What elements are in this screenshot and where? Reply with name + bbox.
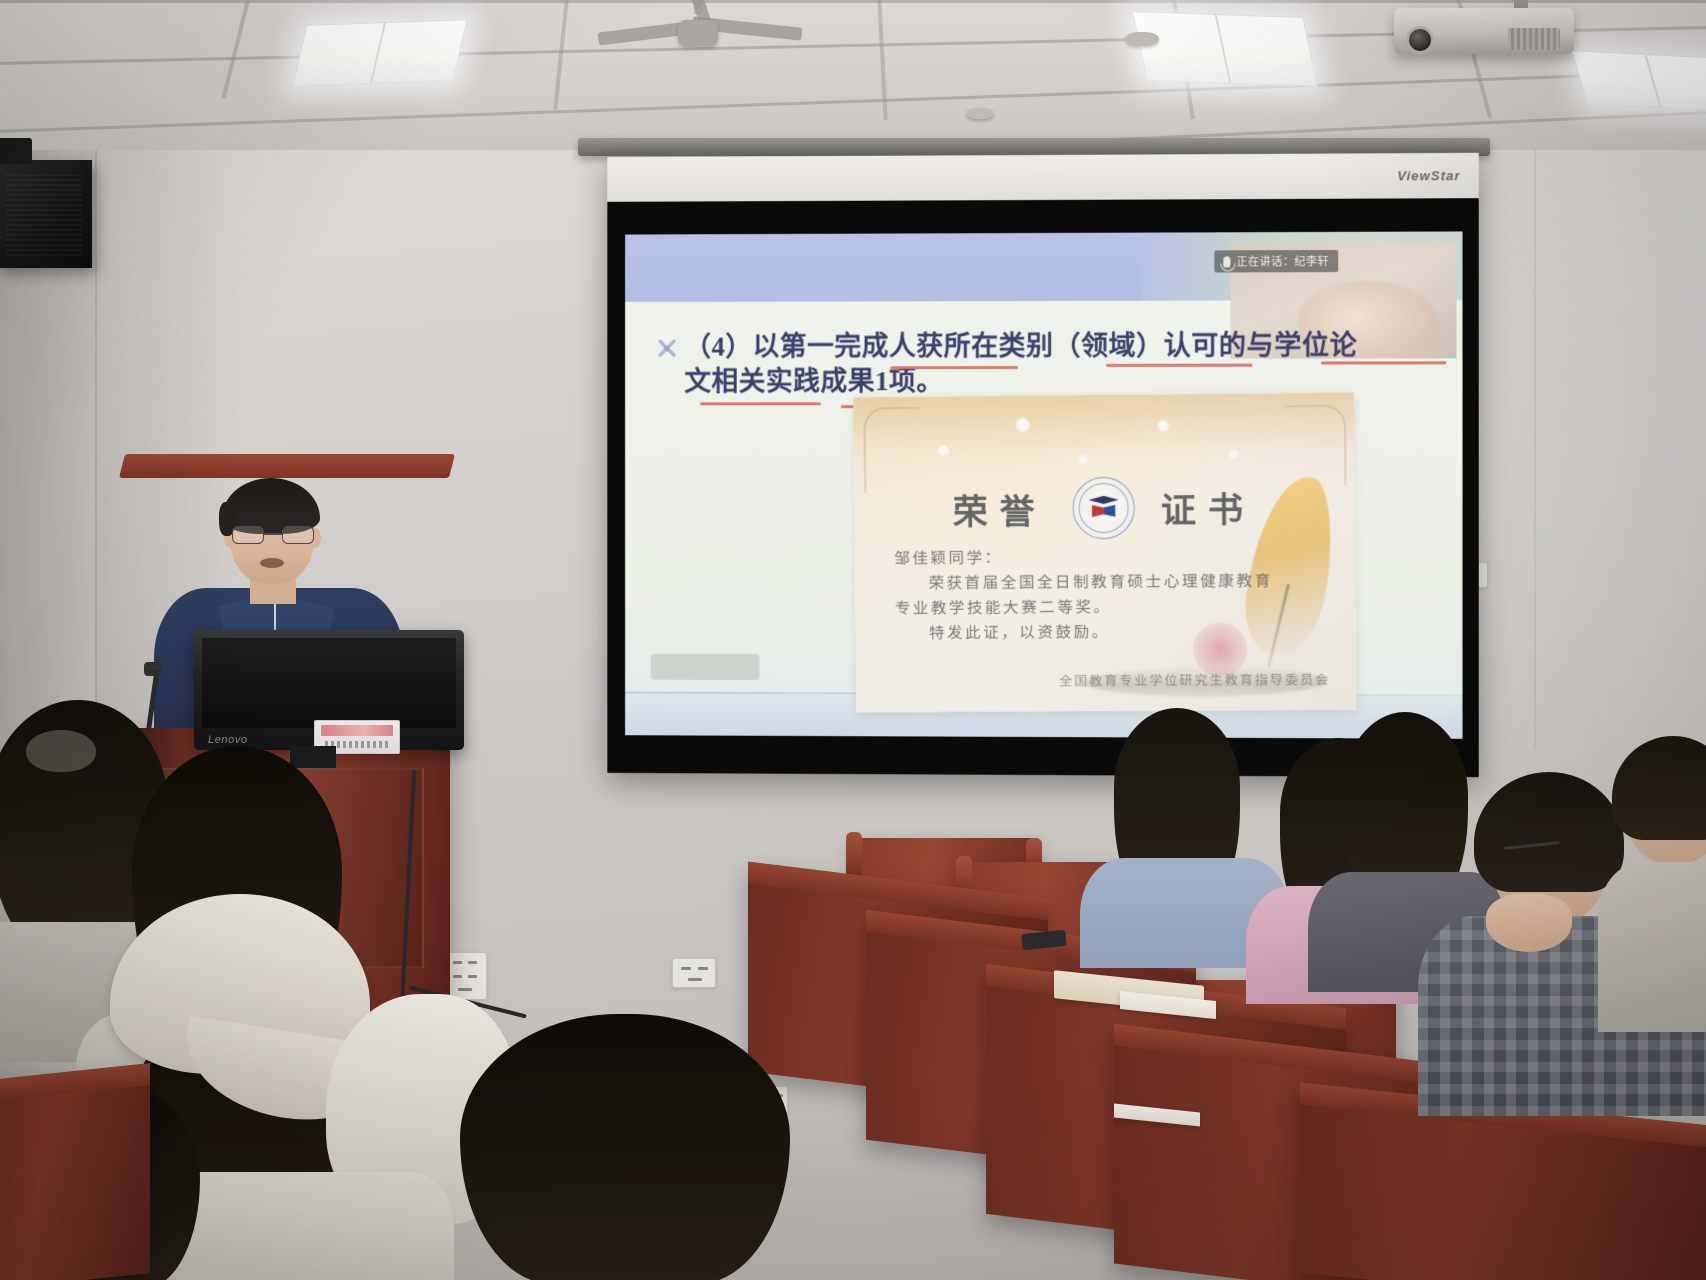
projection-screen: ViewStar 正在讲话：纪李轩 （4）以第一完成人获所在类别（领 [607,153,1478,777]
speaking-status-text: 正在讲话：纪李轩 [1236,253,1329,269]
audience-member [1616,742,1706,1002]
wooden-desk[interactable] [0,1063,150,1280]
graduation-cap-seal-icon [1072,477,1135,540]
ceiling-fan [600,4,800,62]
certificate-body-line-2: 专业教学技能大赛二等奖。 [895,598,1112,617]
ceiling-light-panel [292,19,468,87]
certificate-body-line-1: 荣获首届全国全日制教育硕士心理健康教育 [895,569,1312,597]
certificate-recipient: 邹佳颖同学： [894,544,1311,572]
lecture-hall-photo: ViewStar 正在讲话：纪李轩 （4）以第一完成人获所在类别（领 [0,0,1706,1280]
projector-lens [1406,26,1434,54]
speaking-status-badge: 正在讲话：纪李轩 [1214,250,1338,272]
ceiling-light-panel [1571,50,1706,112]
power-outlet[interactable] [672,958,716,988]
certificate-body: 邹佳颖同学： 荣获首届全国全日制教育硕士心理健康教育 专业教学技能大赛二等奖。 … [894,544,1311,647]
slide-line-1: （4）以第一完成人获所在类别（领域）认可的与学位论 [684,330,1357,361]
eyeglasses-icon [232,526,314,544]
slide-line-2: 文相关实践成果1项。 [684,366,943,396]
screen-brand-label: ViewStar [1397,168,1460,183]
certificate-issuer: 全国教育专业学位研究生教育指导委员会 [1059,669,1330,689]
smoke-detector [1125,32,1159,46]
certificate-body-line-3: 特发此证，以资鼓励。 [895,619,1312,647]
projected-image-area: 正在讲话：纪李轩 （4）以第一完成人获所在类别（领域）认可的与学位论 文相关实践… [625,231,1462,738]
ceiling-projector [1394,0,1574,62]
certificate-title-left: 荣誉 [953,483,1047,535]
ceiling-light-panel [1132,11,1318,87]
monitor-brand-label: Lenovo [208,734,248,746]
honor-certificate-image: 荣誉 证书 邹佳颖同学： 荣获首届全国全日制教育硕士心理健康教育 专业教学技能 [853,392,1356,712]
diamond-bullet-icon [659,340,676,357]
audience-member [460,1014,800,1280]
microphone-icon [1223,256,1230,267]
slide-overlay-button[interactable] [651,654,760,680]
screen-brand-bar: ViewStar [607,153,1478,202]
powerpoint-slide: 正在讲话：纪李轩 （4）以第一完成人获所在类别（领域）认可的与学位论 文相关实践… [625,231,1462,738]
certificate-title-right: 证书 [1161,481,1256,533]
smoke-detector [966,108,994,119]
wall-speaker [0,160,92,268]
desktop-monitor: Lenovo [194,630,464,750]
ceiling [0,0,1706,158]
